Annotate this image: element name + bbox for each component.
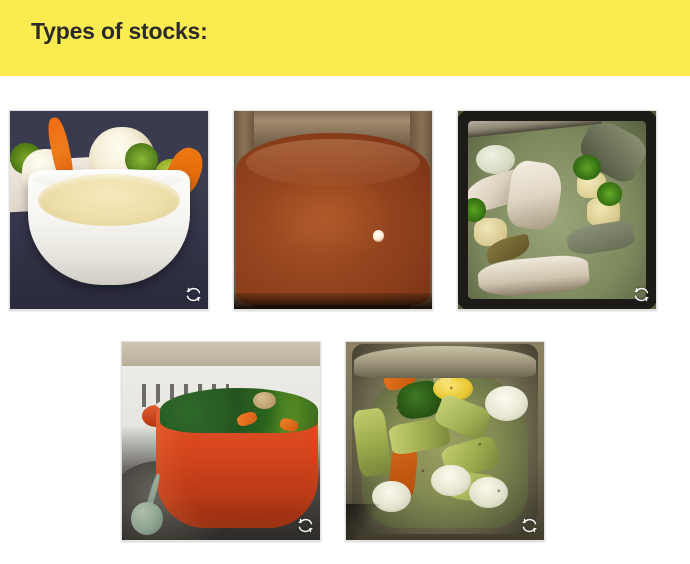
bubble-highlight-shape — [373, 230, 385, 242]
gallery-item-vegetable-pot[interactable] — [121, 341, 321, 541]
stock-liquid-shape — [38, 174, 181, 225]
gallery-item-chicken-stock[interactable] — [9, 110, 209, 310]
cord-shape — [346, 504, 386, 540]
spoon-shape — [126, 473, 177, 536]
rotate-refresh-icon[interactable] — [521, 517, 538, 534]
liquid-swirl-shape — [266, 178, 397, 261]
rotate-refresh-icon[interactable] — [297, 517, 314, 534]
photo-vegetable-stock — [346, 342, 544, 540]
photo-brown-stock — [234, 111, 432, 309]
pot-rim-shape — [354, 346, 536, 378]
photo-chicken-stock — [10, 111, 208, 309]
gallery-item-vegetable-stock[interactable] — [345, 341, 545, 541]
backsplash-shape — [122, 342, 320, 366]
pot-shadow-shape — [234, 293, 432, 309]
pan-rim-shape — [458, 111, 656, 309]
gallery-item-brown-stock[interactable] — [233, 110, 433, 310]
rotate-refresh-icon[interactable] — [633, 286, 650, 303]
photo-fish-stock — [458, 111, 656, 309]
spoon-bowl-shape — [131, 502, 163, 535]
page-header-bar: Types of stocks: — [0, 0, 690, 76]
rotate-refresh-icon[interactable] — [185, 286, 202, 303]
page-title: Types of stocks: — [31, 16, 208, 46]
gallery-item-fish-stock[interactable] — [457, 110, 657, 310]
image-gallery — [0, 76, 690, 564]
photo-vegetable-pot — [122, 342, 320, 540]
